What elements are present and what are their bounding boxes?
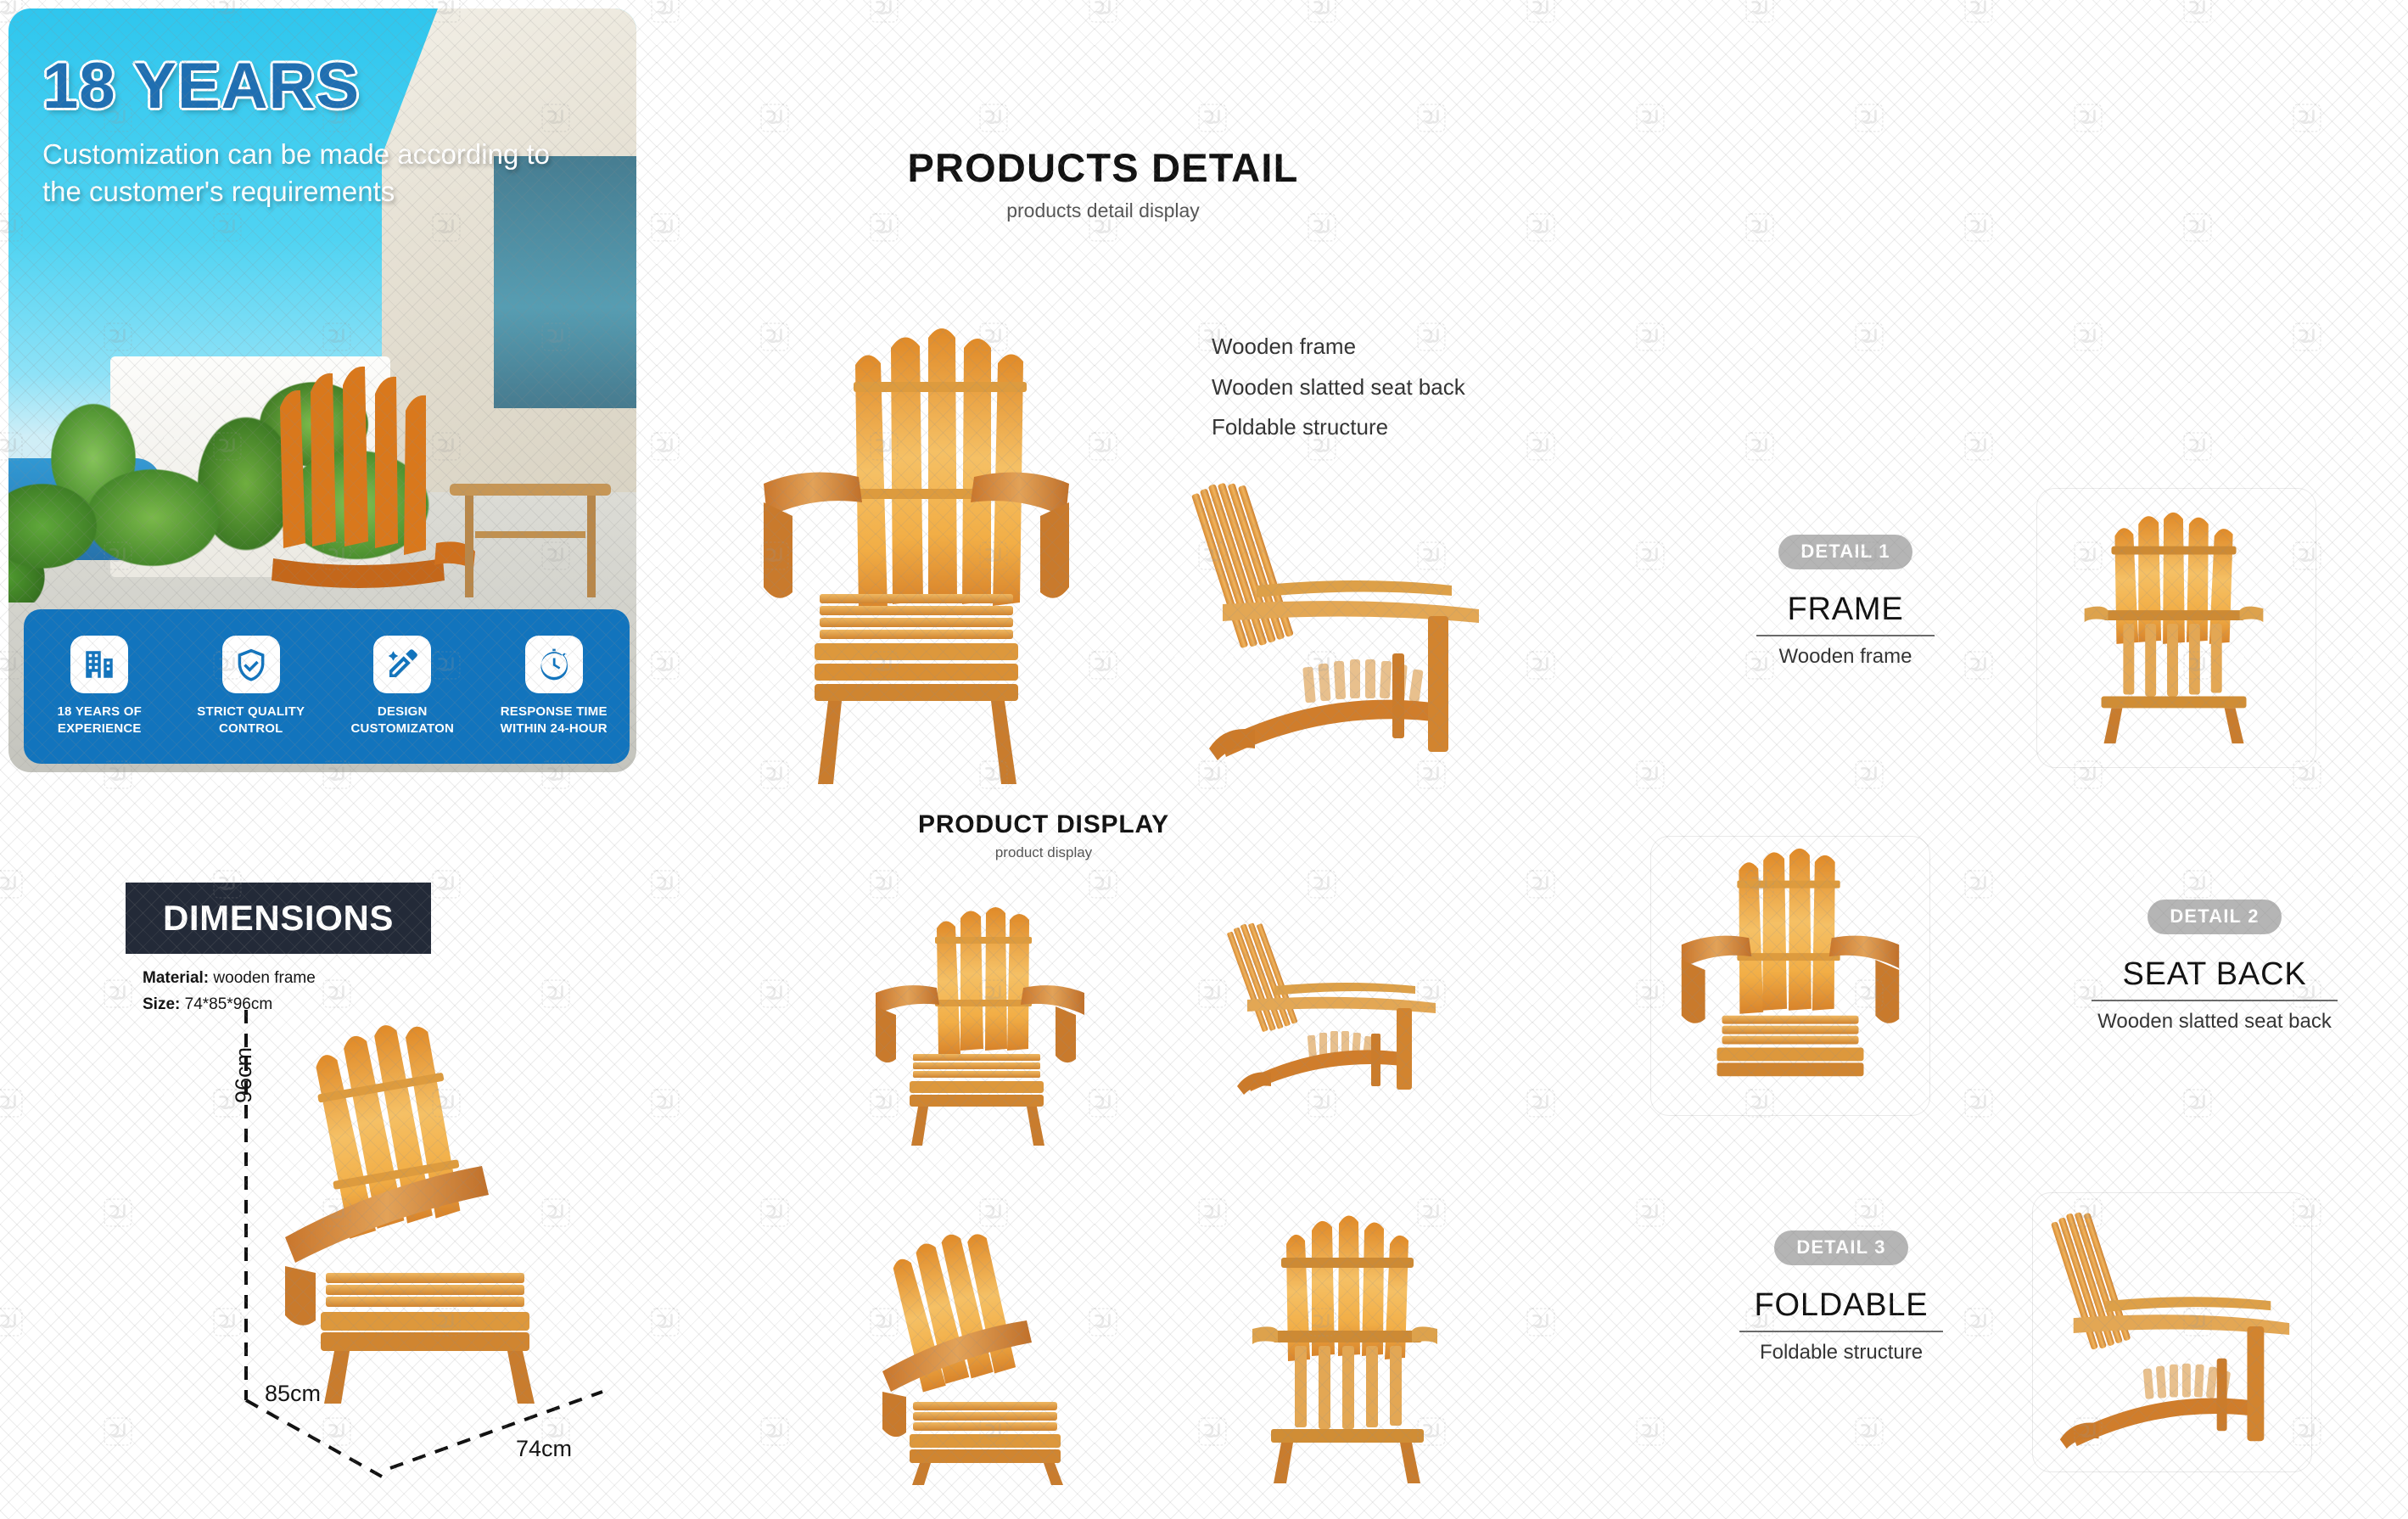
- watermark-logo-icon: [1308, 0, 1336, 23]
- stopwatch-icon: [525, 636, 583, 693]
- watermark-logo-icon: [1855, 760, 1884, 789]
- watermark-logo-icon: [1745, 432, 1774, 461]
- watermark-logo-icon: [1526, 213, 1555, 242]
- watermark-logo-icon: [2074, 322, 2103, 351]
- detail-description: Foldable structure: [1693, 1341, 1990, 1365]
- gallery-chair-side: [1213, 908, 1459, 1103]
- detail-description: Wooden slatted seat back: [2045, 1010, 2384, 1034]
- watermark-logo-icon: [1964, 870, 1993, 899]
- detail-badge: DETAIL 1: [1778, 535, 1912, 569]
- gallery-chair-back: [1230, 1205, 1459, 1485]
- watermark-logo-icon: [1964, 1089, 1993, 1118]
- watermark-logo-icon: [1526, 432, 1555, 461]
- watermark-logo-icon: [1308, 870, 1336, 899]
- watermark-logo-icon: [1526, 870, 1555, 899]
- size-label: Size:: [143, 995, 180, 1013]
- gallery-chair-front: [865, 900, 1095, 1146]
- detail-name: SEAT BACK: [2045, 956, 2384, 993]
- detail-name: FRAME: [1705, 591, 1985, 628]
- watermark-logo-icon: [1855, 322, 1884, 351]
- watermark-logo-icon: [1089, 651, 1117, 680]
- dimension-guides: [212, 993, 687, 1485]
- detail-block-3: DETAIL 3 FOLDABLE Foldable structure: [1693, 1230, 1990, 1365]
- watermark-logo-icon: [1855, 1198, 1884, 1227]
- watermark-logo-icon: [1198, 104, 1227, 132]
- watermark-logo-icon: [2183, 0, 2212, 23]
- watermark-logo-icon: [651, 213, 680, 242]
- hero-title: 18 YEARS: [42, 49, 360, 123]
- product-feature-list: Wooden frame Wooden slatted seat back Fo…: [1212, 327, 1465, 448]
- page-subtitle: products detail display: [848, 199, 1358, 222]
- watermark-logo-icon: [1964, 432, 1993, 461]
- watermark-logo-icon: [760, 979, 789, 1008]
- hero-banner: 18 YEARS Customization can be made accor…: [8, 8, 636, 772]
- watermark-logo-icon: [1636, 541, 1665, 570]
- watermark-logo-icon: [1089, 432, 1117, 461]
- watermark-logo-icon: [1417, 104, 1446, 132]
- watermark-logo-icon: [1745, 213, 1774, 242]
- dimension-label-width: 74cm: [516, 1436, 572, 1462]
- section-subtitle: product display: [848, 844, 1239, 861]
- watermark-logo-icon: [1526, 651, 1555, 680]
- watermark-logo-icon: [1636, 1417, 1665, 1446]
- watermark-logo-icon: [870, 0, 899, 23]
- watermark-logo-icon: [651, 0, 680, 23]
- feature-strip: 18 YEARS OFEXPERIENCE STRICT QUALITYCONT…: [24, 609, 630, 764]
- detail-description: Wooden frame: [1705, 645, 1985, 669]
- detail-image-frame: [2036, 488, 2316, 768]
- feature-label: DESIGNCUSTOMIZATON: [350, 703, 454, 738]
- watermark-logo-icon: [1526, 1308, 1555, 1337]
- feature-item-response: RESPONSE TIMEWITHIN 24-HOUR: [486, 636, 622, 738]
- watermark-logo-icon: [760, 1198, 789, 1227]
- watermark-logo-icon: [2183, 870, 2212, 899]
- watermark-logo-icon: [651, 651, 680, 680]
- watermark-logo-icon: [2074, 104, 2103, 132]
- watermark-logo-icon: [104, 1417, 132, 1446]
- feature-line: Wooden slatted seat back: [1212, 367, 1465, 408]
- watermark-logo-icon: [651, 870, 680, 899]
- watermark-logo-icon: [1855, 1417, 1884, 1446]
- watermark-logo-icon: [432, 870, 461, 899]
- watermark-logo-icon: [1526, 1089, 1555, 1118]
- page-title: PRODUCTS DETAIL: [848, 144, 1358, 191]
- watermark-logo-icon: [0, 870, 23, 899]
- feature-item-experience: 18 YEARS OFEXPERIENCE: [31, 636, 167, 738]
- watermark-logo-icon: [1089, 0, 1117, 23]
- gallery-chair-angle: [865, 1222, 1112, 1485]
- detail-badge: DETAIL 3: [1774, 1230, 1907, 1265]
- watermark-logo-icon: [870, 870, 899, 899]
- feature-label: RESPONSE TIMEWITHIN 24-HOUR: [501, 703, 608, 738]
- material-value: wooden frame: [213, 969, 315, 987]
- watermark-logo-icon: [0, 1089, 23, 1118]
- watermark-logo-icon: [104, 979, 132, 1008]
- hero-subtitle: Customization can be made according to t…: [42, 136, 594, 210]
- shield-check-icon: [222, 636, 280, 693]
- dimensions-material-line: Material: wooden frame: [143, 969, 316, 988]
- watermark-logo-icon: [1198, 1417, 1227, 1446]
- watermark-logo-icon: [2183, 213, 2212, 242]
- dimension-label-depth: 85cm: [265, 1381, 321, 1407]
- detail-divider: [1756, 635, 1935, 636]
- watermark-logo-icon: [2183, 432, 2212, 461]
- watermark-logo-icon: [2293, 322, 2321, 351]
- material-label: Material:: [143, 969, 209, 987]
- feature-label: STRICT QUALITYCONTROL: [197, 703, 305, 738]
- watermark-logo-icon: [1636, 322, 1665, 351]
- feature-item-design: DESIGNCUSTOMIZATON: [334, 636, 470, 738]
- feature-label: 18 YEARS OFEXPERIENCE: [58, 703, 142, 738]
- chair-front-image: [747, 314, 1086, 789]
- products-detail-header: PRODUCTS DETAIL products detail display: [848, 144, 1358, 222]
- watermark-logo-icon: [760, 104, 789, 132]
- detail-image-foldable: [2032, 1192, 2312, 1472]
- watermark-logo-icon: [1636, 1198, 1665, 1227]
- detail-block-1: DETAIL 1 FRAME Wooden frame: [1705, 535, 1985, 669]
- chair-side-image: [1175, 458, 1506, 789]
- detail-image-seatback: [1650, 836, 1930, 1116]
- feature-line: Wooden frame: [1212, 327, 1465, 367]
- watermark-logo-icon: [1198, 1198, 1227, 1227]
- dimensions-title: DIMENSIONS: [126, 883, 431, 954]
- watermark-logo-icon: [1855, 104, 1884, 132]
- watermark-logo-icon: [2183, 1089, 2212, 1118]
- detail-divider: [2092, 1000, 2338, 1001]
- hero-table-graphic: [441, 450, 619, 619]
- detail-divider: [1739, 1331, 1943, 1332]
- detail-badge: DETAIL 2: [2148, 900, 2281, 934]
- section-title: PRODUCT DISPLAY: [848, 810, 1239, 839]
- dimension-label-height: 96cm: [231, 1047, 257, 1103]
- product-display-header: PRODUCT DISPLAY product display: [848, 810, 1239, 861]
- building-icon: [70, 636, 128, 693]
- watermark-logo-icon: [104, 1198, 132, 1227]
- watermark-logo-icon: [1964, 213, 1993, 242]
- watermark-logo-icon: [760, 1417, 789, 1446]
- detail-block-2: DETAIL 2 SEAT BACK Wooden slatted seat b…: [2045, 900, 2384, 1034]
- watermark-logo-icon: [1636, 104, 1665, 132]
- pen-ruler-icon: [373, 636, 431, 693]
- watermark-logo-icon: [1526, 0, 1555, 23]
- watermark-logo-icon: [1089, 870, 1117, 899]
- watermark-logo-icon: [979, 104, 1008, 132]
- feature-item-quality: STRICT QUALITYCONTROL: [183, 636, 319, 738]
- watermark-logo-icon: [2293, 104, 2321, 132]
- watermark-logo-icon: [651, 432, 680, 461]
- feature-line: Foldable structure: [1212, 407, 1465, 448]
- watermark-logo-icon: [1636, 760, 1665, 789]
- watermark-logo-icon: [1745, 0, 1774, 23]
- watermark-logo-icon: [0, 1308, 23, 1337]
- detail-name: FOLDABLE: [1693, 1287, 1990, 1324]
- watermark-logo-icon: [1964, 0, 1993, 23]
